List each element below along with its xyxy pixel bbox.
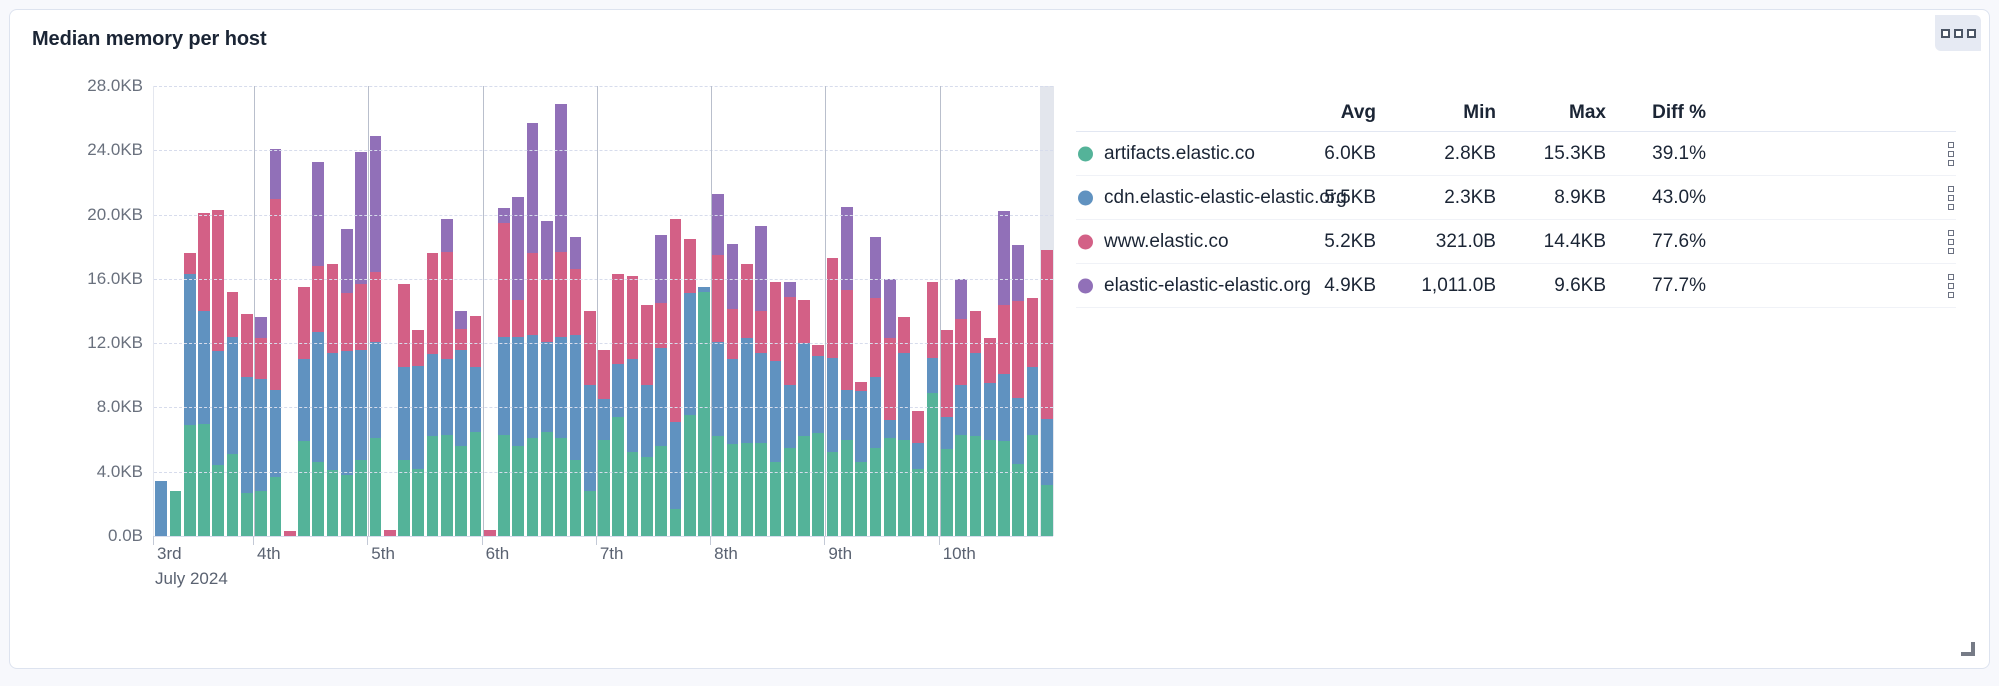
bar-segment <box>270 390 282 477</box>
bar-segment <box>184 425 196 536</box>
bar-segment <box>427 436 439 536</box>
bar-segment <box>755 443 767 536</box>
bar-stack[interactable] <box>527 123 539 536</box>
bar-stack[interactable] <box>584 311 596 536</box>
bar-stack[interactable] <box>670 219 682 536</box>
bar-segment <box>912 443 924 469</box>
x-tick-label: 6th <box>486 544 510 564</box>
bar-segment <box>670 509 682 536</box>
bar-segment <box>555 337 567 438</box>
bar-segment <box>841 290 853 390</box>
cell-avg: 5.2KB <box>1266 231 1376 253</box>
drag-handle-dot <box>1948 274 1954 280</box>
drag-handle-dot <box>1948 248 1954 254</box>
bar-segment <box>298 287 310 359</box>
bar-segment <box>255 491 267 536</box>
bar-segment <box>827 452 839 536</box>
bar-segment <box>412 366 424 469</box>
bar-segment <box>1012 464 1024 536</box>
y-tick-label: 0.0B <box>108 526 143 546</box>
bar-segment <box>955 279 967 319</box>
grid-squares-icon[interactable] <box>1935 15 1981 51</box>
bar-segment <box>398 367 410 460</box>
series-name: artifacts.elastic.co <box>1104 143 1255 165</box>
bar-segment <box>655 348 667 446</box>
bar-stack[interactable] <box>227 292 239 536</box>
bar-segment <box>412 469 424 537</box>
bar-segment <box>712 436 724 536</box>
bar-segment <box>841 207 853 291</box>
cell-max: 15.3KB <box>1496 143 1606 165</box>
table-row[interactable]: artifacts.elastic.co6.0KB2.8KB15.3KB39.1… <box>1076 132 1956 176</box>
cell-avg: 5.5KB <box>1266 187 1376 209</box>
bar-segment <box>855 382 867 392</box>
bar-stack[interactable] <box>541 221 553 536</box>
x-tick-label: 3rd <box>157 544 182 564</box>
bar-stack[interactable] <box>741 264 753 536</box>
bar-stack[interactable] <box>512 197 524 536</box>
bar-segment <box>855 462 867 536</box>
bar-segment <box>884 279 896 338</box>
bar-segment <box>1041 250 1053 419</box>
bar-segment <box>298 359 310 441</box>
bar-stack[interactable] <box>155 481 167 536</box>
day-separator <box>368 86 369 536</box>
bar-segment <box>970 353 982 437</box>
bar-segment <box>541 432 553 536</box>
bar-segment <box>684 239 696 294</box>
bar-stack[interactable] <box>870 237 882 536</box>
x-tick <box>482 536 483 545</box>
bar-stack[interactable] <box>441 219 453 536</box>
x-axis-line <box>153 536 1053 537</box>
x-tick <box>253 536 254 545</box>
bar-segment <box>741 443 753 536</box>
bar-segment <box>412 330 424 365</box>
x-axis-sublabel: July 2024 <box>155 569 228 589</box>
bar-series-container <box>154 86 1053 536</box>
drag-handle-icon[interactable] <box>1948 274 1954 298</box>
bar-segment <box>627 452 639 536</box>
bar-stack[interactable] <box>341 229 353 536</box>
bar-segment <box>612 274 624 364</box>
bar-segment <box>770 462 782 536</box>
bar-segment <box>155 481 167 536</box>
x-tick-label: 8th <box>714 544 738 564</box>
bar-segment <box>970 436 982 536</box>
bar-segment <box>898 353 910 440</box>
cell-min: 321.0B <box>1386 231 1496 253</box>
bar-segment <box>441 359 453 435</box>
bar-stack[interactable] <box>1041 250 1053 536</box>
bar-stack[interactable] <box>241 314 253 536</box>
drag-handle-dot <box>1948 292 1954 298</box>
bar-stack[interactable] <box>312 162 324 536</box>
bar-segment <box>184 274 196 425</box>
x-axis: July 2024 3rd4th5th6th7th8th9th10th <box>153 536 1053 606</box>
y-tick-label: 12.0KB <box>87 333 143 353</box>
bar-segment <box>541 280 553 341</box>
bar-segment <box>670 422 682 509</box>
bar-stack[interactable] <box>998 211 1010 536</box>
bar-segment <box>784 282 796 296</box>
bar-segment <box>770 361 782 462</box>
bar-segment <box>712 255 724 342</box>
horizontal-gridline <box>154 343 1053 344</box>
bar-segment <box>698 292 710 536</box>
series-color-dot[interactable] <box>1078 234 1093 249</box>
bar-stack[interactable] <box>727 244 739 536</box>
bar-stack[interactable] <box>784 282 796 536</box>
bar-segment <box>755 311 767 353</box>
bar-segment <box>312 332 324 462</box>
column-header-min[interactable]: Min <box>1386 102 1496 124</box>
bar-segment <box>641 305 653 385</box>
bar-segment <box>441 435 453 536</box>
bar-stack[interactable] <box>212 210 224 536</box>
table-row[interactable]: elastic-elastic-elastic.org4.9KB1,011.0B… <box>1076 264 1956 308</box>
bar-segment <box>727 309 739 359</box>
bar-segment <box>955 435 967 536</box>
y-tick-label: 24.0KB <box>87 140 143 160</box>
column-header-max[interactable]: Max <box>1496 102 1606 124</box>
bar-segment <box>727 244 739 310</box>
bar-segment <box>370 136 382 273</box>
bar-segment <box>598 440 610 536</box>
drag-handle-dot <box>1948 239 1954 245</box>
bar-stack[interactable] <box>570 237 582 536</box>
bar-segment <box>455 329 467 350</box>
bar-segment <box>1012 245 1024 301</box>
bar-segment <box>370 438 382 536</box>
cell-max: 14.4KB <box>1496 231 1606 253</box>
bar-segment <box>655 235 667 303</box>
cell-min: 1,011.0B <box>1386 275 1496 297</box>
legend-table-header: AvgMinMaxDiff % <box>1076 90 1956 132</box>
bar-segment <box>755 353 767 443</box>
bar-segment <box>498 337 510 435</box>
drag-handle-dot <box>1948 160 1954 166</box>
bar-segment <box>212 465 224 536</box>
bar-segment <box>512 300 524 337</box>
cell-diff: 39.1% <box>1596 143 1706 165</box>
bar-stack[interactable] <box>941 330 953 536</box>
bar-segment <box>770 282 782 361</box>
bar-segment <box>527 253 539 335</box>
bar-segment <box>741 338 753 442</box>
bar-segment <box>1041 485 1053 536</box>
bar-stack[interactable] <box>255 317 267 536</box>
cell-diff: 77.6% <box>1596 231 1706 253</box>
bar-segment <box>884 420 896 438</box>
bar-segment <box>270 199 282 390</box>
grid-square-3 <box>1967 29 1976 38</box>
bar-stack[interactable] <box>812 345 824 536</box>
series-color-dot[interactable] <box>1078 190 1093 205</box>
bar-segment <box>227 292 239 337</box>
bar-segment <box>541 342 553 432</box>
bar-segment <box>370 342 382 438</box>
bar-stack[interactable] <box>412 330 424 536</box>
bar-stack[interactable] <box>655 235 667 536</box>
bar-segment <box>827 358 839 453</box>
bar-stack[interactable] <box>898 317 910 536</box>
bar-segment <box>970 311 982 353</box>
bar-stack[interactable] <box>598 350 610 536</box>
bar-segment <box>1027 435 1039 536</box>
cell-avg: 4.9KB <box>1266 275 1376 297</box>
drag-handle-icon[interactable] <box>1948 142 1954 166</box>
bar-segment <box>541 221 553 280</box>
series-color-dot[interactable] <box>1078 146 1093 161</box>
bar-stack[interactable] <box>798 300 810 536</box>
bar-segment <box>984 383 996 439</box>
x-tick-label: 7th <box>600 544 624 564</box>
horizontal-gridline <box>154 472 1053 473</box>
bar-segment <box>927 358 939 393</box>
bar-segment <box>327 353 339 470</box>
bar-segment <box>898 317 910 352</box>
bar-segment <box>684 415 696 536</box>
panel-header: Median memory per host <box>10 10 1989 66</box>
bar-segment <box>341 229 353 293</box>
bar-stack[interactable] <box>855 382 867 536</box>
drag-handle-icon[interactable] <box>1948 230 1954 254</box>
horizontal-gridline <box>154 150 1053 151</box>
grid-square-1 <box>1941 29 1950 38</box>
bar-segment <box>470 367 482 431</box>
bar-segment <box>355 350 367 461</box>
bar-segment <box>227 454 239 536</box>
bar-stack[interactable] <box>427 253 439 536</box>
day-separator <box>483 86 484 536</box>
y-tick-label: 4.0KB <box>97 462 143 482</box>
cell-min: 2.3KB <box>1386 187 1496 209</box>
page-title: Median memory per host <box>32 28 267 51</box>
chart-section: 0.0B4.0KB8.0KB12.0KB16.0KB20.0KB24.0KB28… <box>10 66 1070 666</box>
bar-segment <box>255 379 267 492</box>
bar-segment <box>570 237 582 269</box>
drag-handle-dot <box>1948 195 1954 201</box>
bar-stack[interactable] <box>927 282 939 536</box>
bar-segment <box>570 335 582 460</box>
bar-stack[interactable] <box>298 287 310 536</box>
bar-segment <box>470 316 482 367</box>
bar-stack[interactable] <box>970 311 982 536</box>
legend-table: AvgMinMaxDiff % artifacts.elastic.co6.0K… <box>1076 90 1956 308</box>
bar-stack[interactable] <box>984 338 996 536</box>
day-separator <box>825 86 826 536</box>
bar-stack[interactable] <box>770 282 782 536</box>
series-color-dot[interactable] <box>1078 278 1093 293</box>
bar-segment <box>455 311 467 329</box>
horizontal-gridline <box>154 279 1053 280</box>
bar-segment <box>955 385 967 435</box>
bar-segment <box>941 449 953 536</box>
bar-segment <box>912 411 924 443</box>
bar-stack[interactable] <box>612 274 624 536</box>
x-tick-label: 4th <box>257 544 281 564</box>
bar-segment <box>612 364 624 417</box>
bar-segment <box>1027 367 1039 435</box>
resize-corner-icon[interactable] <box>1959 640 1975 656</box>
drag-handle-dot <box>1948 142 1954 148</box>
bar-segment <box>170 491 182 536</box>
bar-segment <box>512 446 524 536</box>
bar-stack[interactable] <box>198 213 210 536</box>
x-tick-label: 9th <box>828 544 852 564</box>
bar-segment <box>927 282 939 358</box>
bar-segment <box>955 319 967 385</box>
bar-stack[interactable] <box>170 491 182 536</box>
bar-segment <box>884 438 896 536</box>
bar-segment <box>584 385 596 491</box>
bar-segment <box>598 350 610 400</box>
bar-segment <box>198 424 210 537</box>
bar-stack[interactable] <box>841 207 853 536</box>
bar-stack[interactable] <box>712 194 724 536</box>
bar-segment <box>312 266 324 332</box>
bar-segment <box>627 359 639 452</box>
horizontal-gridline <box>154 215 1053 216</box>
bar-segment <box>341 351 353 475</box>
bar-segment <box>655 446 667 536</box>
bar-segment <box>870 237 882 298</box>
bar-stack[interactable] <box>498 208 510 536</box>
bar-segment <box>298 441 310 536</box>
bar-segment <box>727 444 739 536</box>
bar-stack[interactable] <box>912 411 924 536</box>
y-axis: 0.0B4.0KB8.0KB12.0KB16.0KB20.0KB24.0KB28… <box>10 66 153 596</box>
bar-segment <box>212 210 224 351</box>
x-tick <box>153 536 154 545</box>
x-tick <box>367 536 368 545</box>
plot-area[interactable] <box>153 86 1053 536</box>
bar-segment <box>398 284 410 368</box>
y-tick-label: 28.0KB <box>87 76 143 96</box>
cell-max: 9.6KB <box>1496 275 1606 297</box>
bar-segment <box>427 354 439 436</box>
bar-segment <box>941 417 953 449</box>
bar-segment <box>355 152 367 284</box>
bar-segment <box>812 356 824 433</box>
bar-segment <box>984 440 996 536</box>
bar-segment <box>984 338 996 383</box>
drag-handle-dot <box>1948 186 1954 192</box>
bar-stack[interactable] <box>398 284 410 536</box>
x-tick <box>939 536 940 545</box>
bar-segment <box>341 475 353 536</box>
y-tick-label: 16.0KB <box>87 269 143 289</box>
bar-segment <box>555 438 567 536</box>
bar-segment <box>798 343 810 436</box>
bar-segment <box>998 305 1010 374</box>
bar-segment <box>712 194 724 255</box>
bar-segment <box>555 104 567 252</box>
y-tick-label: 20.0KB <box>87 205 143 225</box>
bar-stack[interactable] <box>641 305 653 536</box>
bar-segment <box>312 462 324 536</box>
bar-segment <box>555 252 567 337</box>
table-row[interactable]: cdn.elastic-elastic-elastic.org5.5KB2.3K… <box>1076 176 1956 220</box>
bar-segment <box>912 469 924 537</box>
bar-segment <box>584 311 596 385</box>
bar-segment <box>584 491 596 536</box>
bar-stack[interactable] <box>698 287 710 536</box>
table-row[interactable]: www.elastic.co5.2KB321.0B14.4KB77.6% <box>1076 220 1956 264</box>
bar-stack[interactable] <box>470 316 482 536</box>
column-header-avg[interactable]: Avg <box>1266 102 1376 124</box>
x-tick-label: 10th <box>943 544 976 564</box>
bar-segment <box>1012 301 1024 397</box>
bar-segment <box>527 335 539 438</box>
bar-segment <box>655 303 667 348</box>
bar-segment <box>898 440 910 536</box>
bar-stack[interactable] <box>184 253 196 536</box>
bar-stack[interactable] <box>370 136 382 536</box>
column-header-diff[interactable]: Diff % <box>1596 102 1706 124</box>
bar-segment <box>512 197 524 300</box>
cell-diff: 77.7% <box>1596 275 1706 297</box>
bar-stack[interactable] <box>455 311 467 536</box>
drag-handle-dot <box>1948 230 1954 236</box>
bar-segment <box>427 253 439 354</box>
bar-segment <box>870 298 882 377</box>
bar-segment <box>641 457 653 536</box>
bar-segment <box>370 272 382 341</box>
bar-segment <box>455 446 467 536</box>
bar-stack[interactable] <box>1027 298 1039 536</box>
bar-segment <box>998 441 1010 536</box>
chart-panel: Median memory per host 0.0B4.0KB8.0KB12.… <box>9 9 1990 669</box>
bar-segment <box>1027 298 1039 367</box>
bar-segment <box>355 284 367 350</box>
bar-segment <box>927 393 939 536</box>
horizontal-gridline <box>154 86 1053 87</box>
bar-segment <box>270 149 282 199</box>
bar-segment <box>798 436 810 536</box>
day-separator <box>711 86 712 536</box>
bar-segment <box>441 219 453 251</box>
bar-segment <box>498 435 510 536</box>
bar-segment <box>870 377 882 448</box>
y-tick-label: 8.0KB <box>97 397 143 417</box>
bar-segment <box>241 377 253 493</box>
bar-stack[interactable] <box>755 226 767 536</box>
bar-segment <box>527 438 539 536</box>
bar-stack[interactable] <box>1012 245 1024 536</box>
bar-segment <box>755 226 767 311</box>
bar-segment <box>812 345 824 356</box>
cell-max: 8.9KB <box>1496 187 1606 209</box>
bar-segment <box>841 390 853 440</box>
bar-segment <box>784 448 796 536</box>
bar-segment <box>470 432 482 536</box>
drag-handle-icon[interactable] <box>1948 186 1954 210</box>
bar-stack[interactable] <box>684 239 696 536</box>
bar-segment <box>870 448 882 536</box>
bar-segment <box>327 264 339 352</box>
cell-avg: 6.0KB <box>1266 143 1376 165</box>
bar-stack[interactable] <box>327 264 339 536</box>
bar-stack[interactable] <box>627 276 639 536</box>
cell-min: 2.8KB <box>1386 143 1496 165</box>
bar-stack[interactable] <box>827 258 839 536</box>
day-separator <box>597 86 598 536</box>
bar-segment <box>255 317 267 338</box>
bar-segment <box>241 314 253 377</box>
bar-segment <box>255 338 267 378</box>
